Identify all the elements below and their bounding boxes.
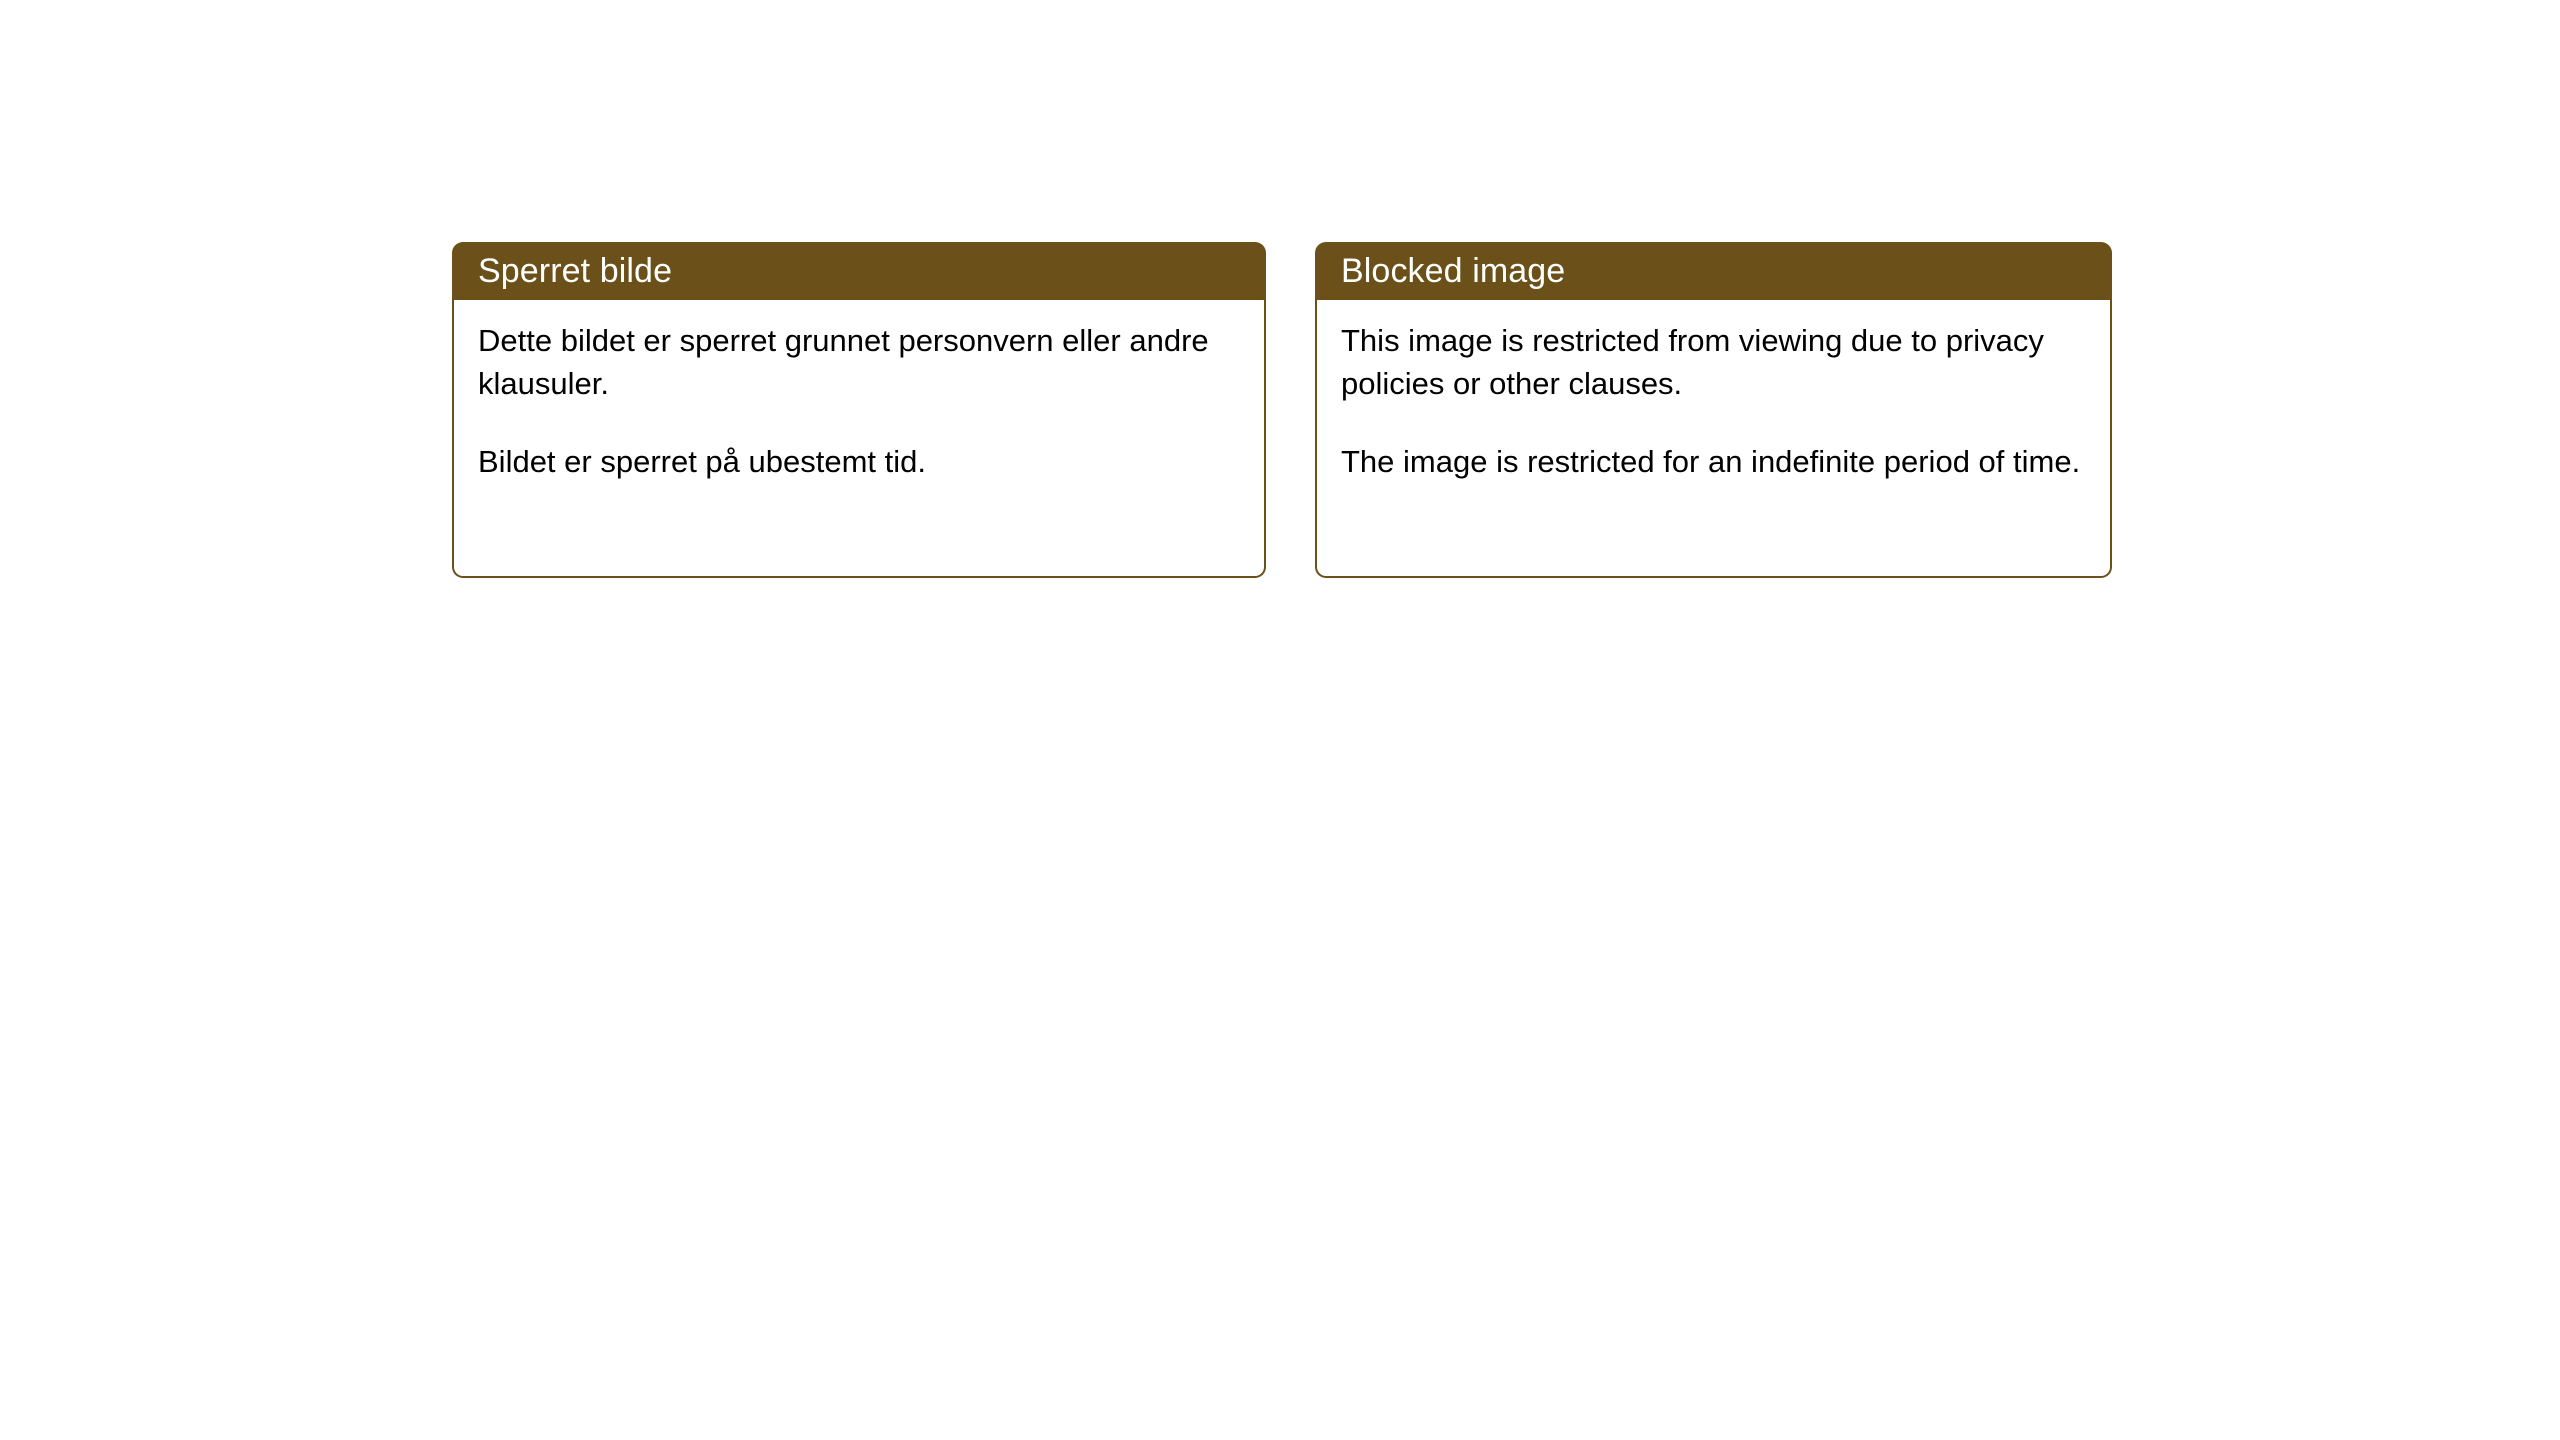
- card-title-english: Blocked image: [1341, 251, 1565, 291]
- card-header-english: Blocked image: [1315, 242, 2112, 300]
- blocked-image-notice-card-english: Blocked image This image is restricted f…: [1315, 242, 2112, 578]
- card-body-english: This image is restricted from viewing du…: [1315, 300, 2112, 578]
- card-body-norwegian: Dette bildet er sperret grunnet personve…: [452, 300, 1266, 578]
- card-paragraph-duration-english: The image is restricted for an indefinit…: [1341, 440, 2090, 483]
- blocked-image-notice-card-norwegian: Sperret bilde Dette bildet er sperret gr…: [452, 242, 1266, 578]
- card-paragraph-reason-norwegian: Dette bildet er sperret grunnet personve…: [478, 319, 1244, 405]
- card-header-norwegian: Sperret bilde: [452, 242, 1266, 300]
- page-canvas: Sperret bilde Dette bildet er sperret gr…: [0, 0, 2560, 1440]
- card-title-norwegian: Sperret bilde: [478, 251, 672, 291]
- card-paragraph-reason-english: This image is restricted from viewing du…: [1341, 319, 2090, 405]
- card-paragraph-duration-norwegian: Bildet er sperret på ubestemt tid.: [478, 440, 1244, 483]
